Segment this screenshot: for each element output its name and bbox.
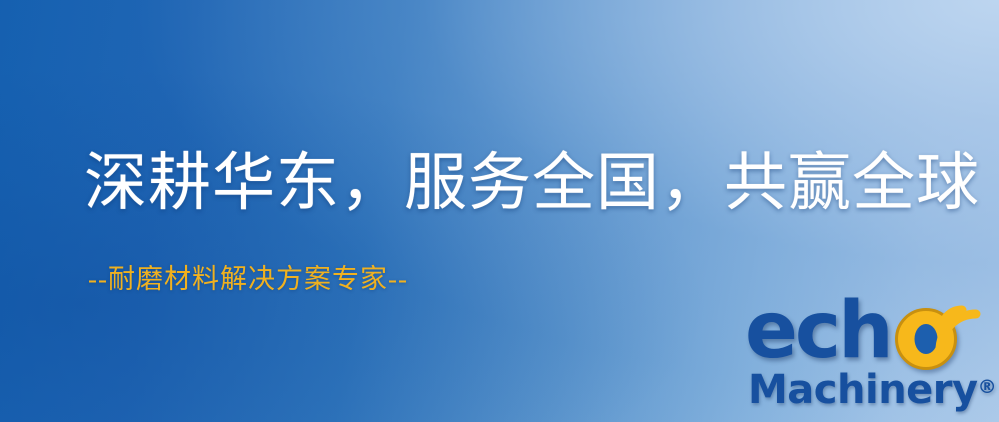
logo-wordmark-group: ech xyxy=(742,296,994,374)
banner-headline: 深耕华东，服务全国，共赢全球 xyxy=(84,152,980,215)
banner-subtitle: --耐磨材料解决方案专家-- xyxy=(88,266,408,293)
company-logo[interactable]: ech Machinery® xyxy=(742,296,994,420)
logo-tagline-machinery: Machinery xyxy=(748,367,978,413)
signal-waves-icon xyxy=(926,290,999,356)
logo-wordmark-echo: ech xyxy=(745,292,891,370)
registered-trademark-icon: ® xyxy=(978,376,997,398)
hero-banner: 深耕华东，服务全国，共赢全球 --耐磨材料解决方案专家-- ech Machin… xyxy=(0,0,999,422)
logo-tagline-group: Machinery® xyxy=(748,370,997,410)
